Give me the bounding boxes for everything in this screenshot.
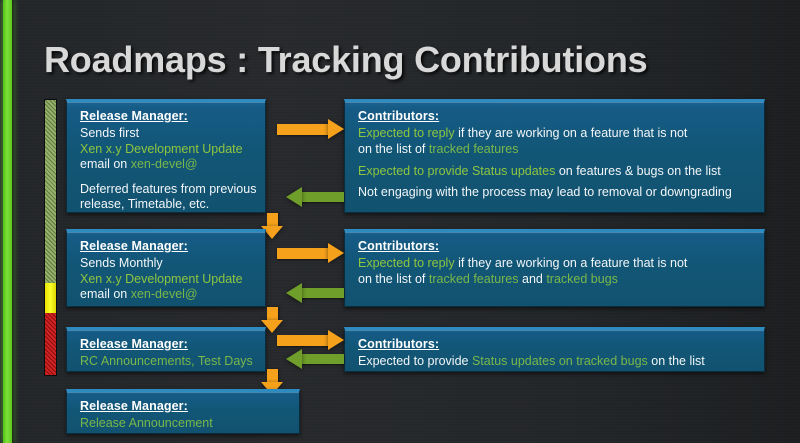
- response-arrow-2: [286, 283, 344, 303]
- contributors-box-2: Contributors: Expected to reply if they …: [344, 229, 765, 307]
- box-line: Expected to provide Status updates on fe…: [358, 164, 753, 180]
- left-accent-stripe: [3, 0, 12, 443]
- release-manager-box-4: Release Manager: Release Announcement: [66, 389, 300, 434]
- box-line: Xen x.y Development Update: [80, 272, 254, 288]
- box-header: Release Manager:: [80, 109, 254, 123]
- box-line: on the list of tracked features and trac…: [358, 272, 753, 288]
- box-header: Contributors:: [358, 337, 753, 351]
- timeline-segment-development: [45, 100, 56, 283]
- box-line: email on xen-devel@: [80, 157, 254, 173]
- timeline-segment-freeze: [45, 283, 56, 313]
- timeline-segment-release-candidate: [45, 313, 56, 375]
- box-line: Sends first: [80, 126, 254, 142]
- box-line: Release Announcement: [80, 416, 288, 432]
- request-arrow-2: [277, 243, 344, 264]
- contributors-box-3: Contributors: Expected to provide Status…: [344, 327, 765, 372]
- box-line: Expected to provide Status updates on tr…: [358, 354, 753, 370]
- box-header: Release Manager:: [80, 239, 254, 253]
- left-accent-shadow: [12, 0, 15, 443]
- release-timeline-bar: [44, 99, 57, 376]
- box-line: Xen x.y Development Update: [80, 142, 254, 158]
- release-manager-box-2: Release Manager: Sends Monthly Xen x.y D…: [66, 229, 266, 307]
- response-arrow-3: [286, 349, 344, 369]
- slide-canvas: Roadmaps : Tracking Contributions Releas…: [0, 0, 800, 443]
- box-header: Release Manager:: [80, 399, 288, 413]
- box-line: Not engaging with the process may lead t…: [358, 185, 753, 201]
- box-line: Sends Monthly: [80, 256, 254, 272]
- box-line: email on xen-devel@: [80, 287, 254, 303]
- contributors-box-1: Contributors: Expected to reply if they …: [344, 99, 765, 213]
- release-manager-box-1: Release Manager: Sends first Xen x.y Dev…: [66, 99, 266, 213]
- box-line: RC Announcements, Test Days: [80, 354, 254, 370]
- box-line: on the list of tracked features: [358, 142, 753, 158]
- box-header: Contributors:: [358, 109, 753, 123]
- release-manager-box-3: Release Manager: RC Announcements, Test …: [66, 327, 266, 372]
- box-line: Expected to reply if they are working on…: [358, 256, 753, 272]
- box-line: release, Timetable, etc.: [80, 197, 254, 213]
- page-title: Roadmaps : Tracking Contributions: [44, 39, 647, 81]
- box-header: Contributors:: [358, 239, 753, 253]
- request-arrow-3: [277, 330, 344, 351]
- box-line: Expected to reply if they are working on…: [358, 126, 753, 142]
- box-header: Release Manager:: [80, 337, 254, 351]
- response-arrow-1: [286, 187, 344, 207]
- request-arrow-1: [277, 119, 344, 140]
- box-line: Deferred features from previous: [80, 182, 254, 198]
